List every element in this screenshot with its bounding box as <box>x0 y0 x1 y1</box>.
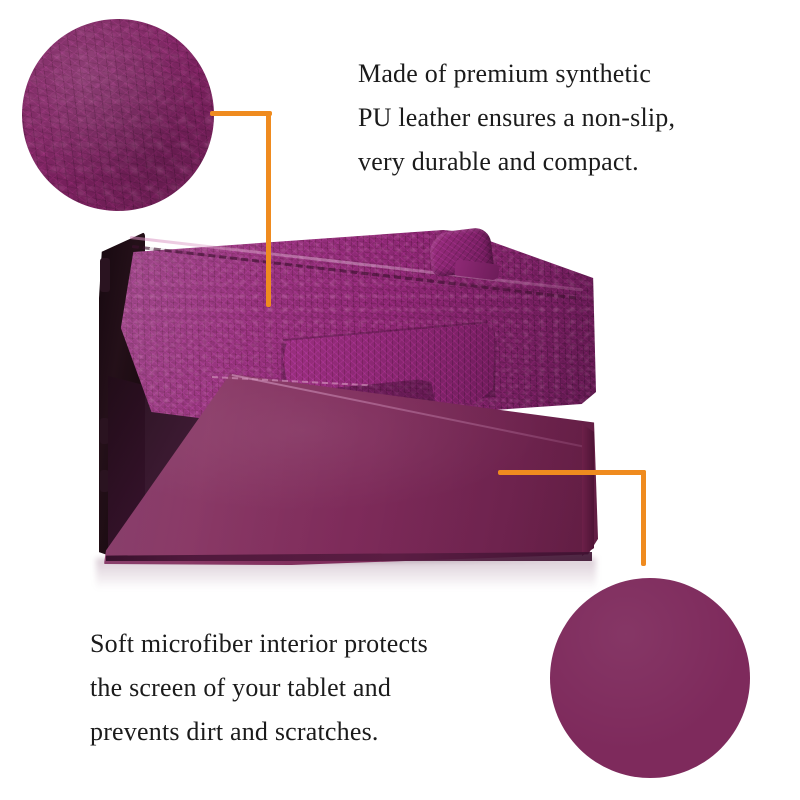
stand-right-edge <box>582 424 594 556</box>
device-button-middle <box>100 418 109 444</box>
microfiber-color-swatch <box>550 578 750 778</box>
bottom-callout-leader-vertical <box>641 470 646 566</box>
top-callout-leader-horizontal <box>210 111 272 116</box>
device-button-bottom <box>100 470 109 492</box>
leather-texture-swatch <box>22 19 214 211</box>
feature-text-microfiber: Soft microfiber interior protects the sc… <box>90 622 520 754</box>
device-button-top <box>100 258 110 292</box>
top-callout-leader-vertical <box>266 111 271 307</box>
feature-text-leather: Made of premium synthetic PU leather ens… <box>358 52 758 184</box>
swatch-pebble-layer <box>22 19 214 211</box>
product-feature-image: Made of premium synthetic PU leather ens… <box>0 0 800 800</box>
bottom-callout-leader-horizontal <box>498 470 646 475</box>
